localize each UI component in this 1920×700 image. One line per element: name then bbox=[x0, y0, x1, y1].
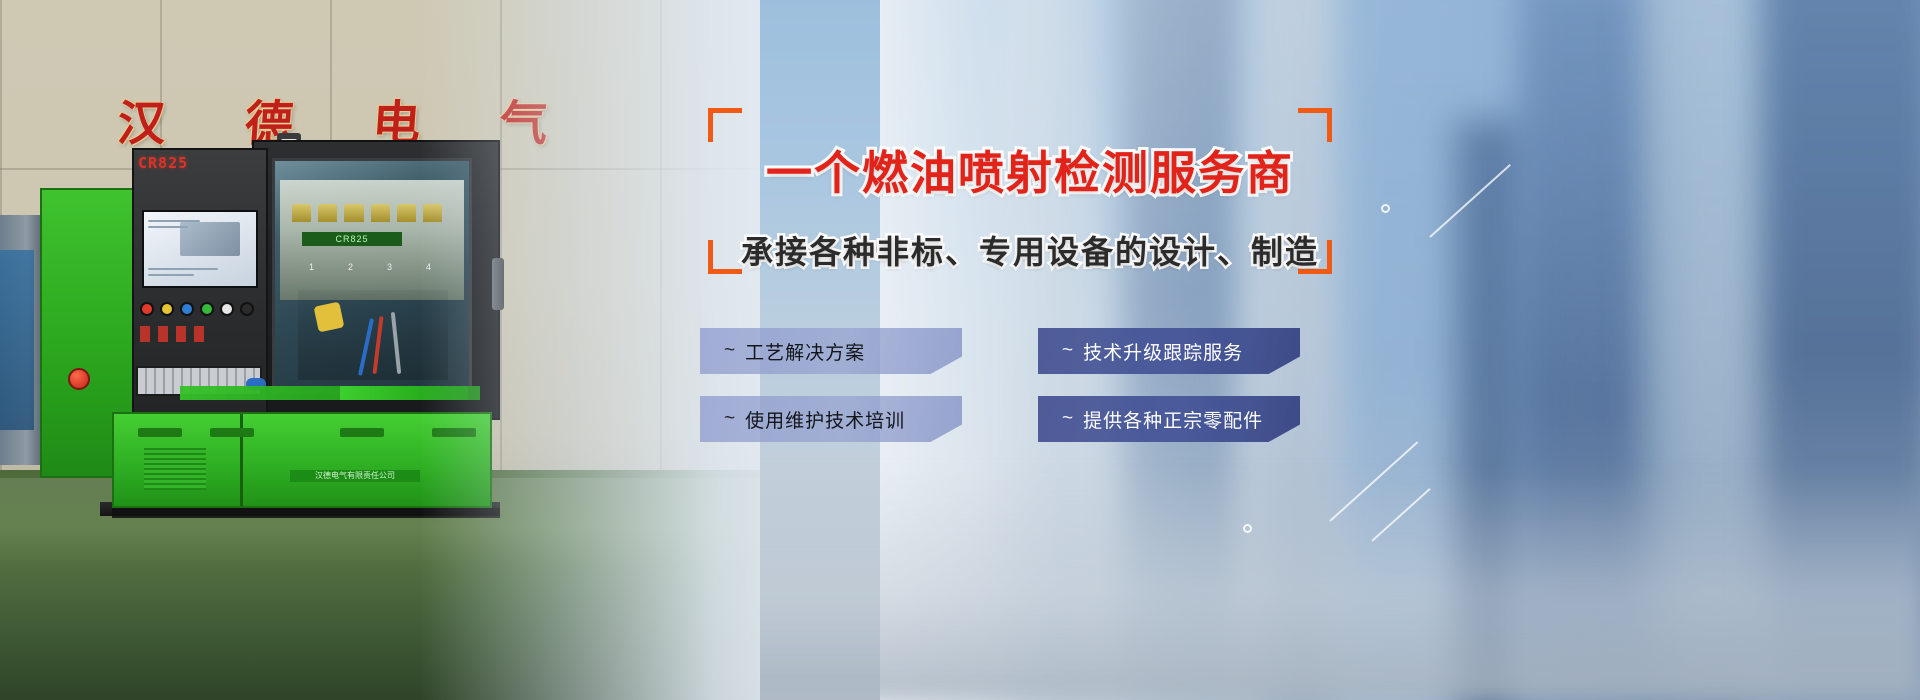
screen-text-line bbox=[148, 220, 200, 222]
workshop-photo: 汉 德 电 气 CR825 1 2 3 4 bbox=[0, 0, 760, 700]
decorative-circle-icon bbox=[1243, 524, 1252, 533]
panel-switch bbox=[194, 326, 204, 342]
panel-switch bbox=[158, 326, 168, 342]
indicator-blue bbox=[180, 302, 194, 316]
feature-chip-genuine-parts[interactable]: ~ 提供各种正宗零配件 bbox=[1038, 396, 1300, 442]
indicator-red bbox=[140, 302, 154, 316]
feature-chip-list: ~ 工艺解决方案 ~ 技术升级跟踪服务 ~ 使用维护技术培训 ~ 提供各种正宗零… bbox=[700, 328, 1300, 448]
banner-copy: 一个燃油喷射检测服务商 承接各种非标、专用设备的设计、制造 bbox=[700, 90, 1360, 273]
panel-indicator-lights bbox=[140, 302, 262, 316]
background-cabinet bbox=[0, 250, 34, 430]
indicator-green bbox=[200, 302, 214, 316]
screen-text-line bbox=[148, 226, 188, 228]
panel-switch bbox=[176, 326, 186, 342]
scale-mark: 1 bbox=[309, 262, 314, 272]
machine-model-badge: CR825 bbox=[138, 154, 248, 176]
feature-chip-label: 提供各种正宗零配件 bbox=[1083, 406, 1263, 433]
indicator-black bbox=[240, 302, 254, 316]
cabinet-handle bbox=[340, 428, 384, 437]
hero-banner: 汉 德 电 气 CR825 1 2 3 4 bbox=[0, 0, 1920, 700]
scale-mark: 2 bbox=[348, 262, 353, 272]
feature-chip-tech-upgrade[interactable]: ~ 技术升级跟踪服务 bbox=[1038, 328, 1300, 374]
banner-headline: 一个燃油喷射检测服务商 bbox=[700, 148, 1360, 199]
screen-text-line bbox=[148, 268, 218, 270]
cabinet-handle bbox=[138, 428, 182, 437]
cabinet-handle bbox=[210, 428, 254, 437]
tube-blue bbox=[358, 318, 374, 376]
screen-text-line bbox=[148, 274, 194, 276]
tilde-icon: ~ bbox=[1062, 408, 1074, 430]
tilde-icon: ~ bbox=[1062, 340, 1074, 362]
feature-chip-label: 技术升级跟踪服务 bbox=[1083, 338, 1243, 365]
feature-chip-process-solution[interactable]: ~ 工艺解决方案 bbox=[700, 328, 962, 374]
feature-chip-label: 使用维护技术培训 bbox=[745, 406, 905, 433]
machine-company-plate: 汉德电气有限责任公司 bbox=[290, 470, 420, 482]
tube-grey bbox=[391, 312, 401, 374]
feature-chip-label: 工艺解决方案 bbox=[745, 338, 865, 365]
tube-yellow bbox=[314, 302, 345, 333]
tilde-icon: ~ bbox=[724, 340, 736, 362]
background-ground-haze bbox=[700, 470, 1920, 700]
scale-mark: 3 bbox=[387, 262, 392, 272]
decorative-circle-icon bbox=[1381, 204, 1390, 213]
banner-subheadline: 承接各种非标、专用设备的设计、制造 bbox=[700, 227, 1360, 273]
panel-switch-row bbox=[140, 326, 262, 342]
tilde-icon: ~ bbox=[724, 408, 736, 430]
tube-red bbox=[372, 316, 383, 374]
cabinet-vent-grill bbox=[144, 448, 206, 490]
screen-graphic bbox=[180, 222, 240, 256]
common-rail-label: CR825 bbox=[302, 232, 402, 246]
feature-chip-maintenance-training[interactable]: ~ 使用维护技术培训 bbox=[700, 396, 962, 442]
emergency-stop-icon bbox=[68, 368, 90, 390]
indicator-white bbox=[220, 302, 234, 316]
indicator-yellow bbox=[160, 302, 174, 316]
panel-switch bbox=[140, 326, 150, 342]
